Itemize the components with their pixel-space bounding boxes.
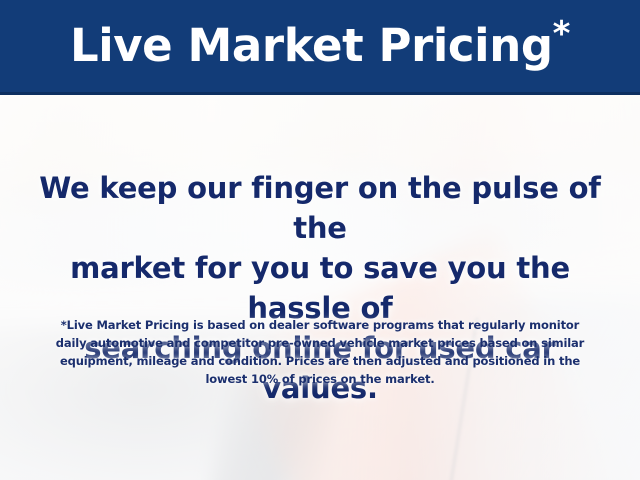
headline-line-1: We keep our finger on the pulse of the	[26, 168, 614, 248]
disclaimer-block: *Live Market Pricing is based on dealer …	[0, 316, 640, 388]
disclaimer-line-2: daily automotive and competitor pre-owne…	[26, 334, 614, 352]
disclaimer-line-3: equipment, mileage and condition. Prices…	[26, 352, 614, 370]
disclaimer-line-1: *Live Market Pricing is based on dealer …	[26, 316, 614, 334]
page-title-text: Live Market Pricing	[70, 19, 553, 72]
page-title-asterisk: *	[553, 14, 570, 54]
live-market-pricing-promo: Live Market Pricing* We keep our finger …	[0, 0, 640, 480]
header-banner: Live Market Pricing*	[0, 0, 640, 95]
disclaimer-line-4: lowest 10% of prices on the market.	[26, 370, 614, 388]
page-title: Live Market Pricing*	[70, 23, 570, 70]
content-area: We keep our finger on the pulse of the m…	[0, 92, 640, 480]
